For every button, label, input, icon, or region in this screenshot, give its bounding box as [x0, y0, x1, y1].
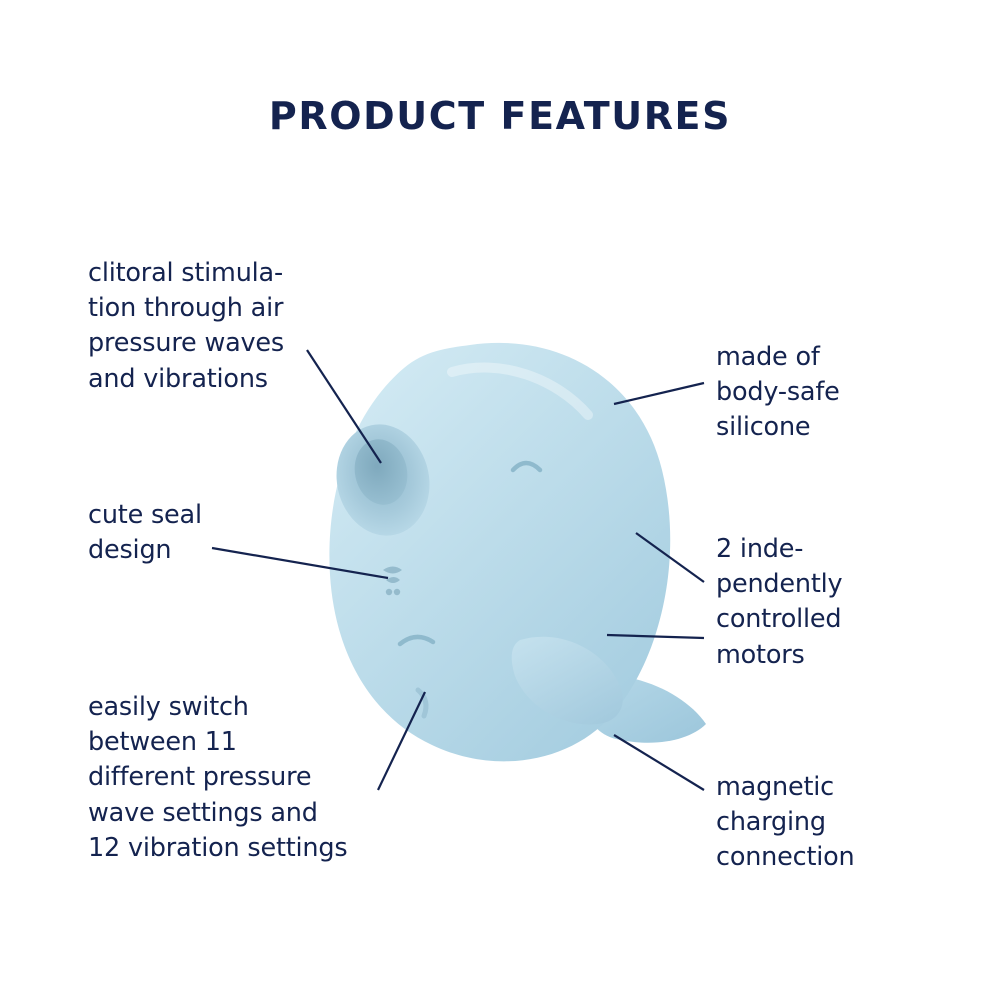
- callout-cute-seal-design: cute seal design: [88, 498, 318, 568]
- product-features-page: PRODUCT FEATURES: [0, 0, 1000, 1000]
- callout-easy-switch-settings: easily switch between 11 different press…: [88, 690, 378, 866]
- leader-line-silicone: [614, 383, 704, 404]
- callout-body-safe-silicone: made of body-safe silicone: [716, 340, 966, 446]
- callout-magnetic-charging: magnetic charging connection: [716, 770, 966, 876]
- callout-clitoral-stimulation: clitoral stimula- tion through air press…: [88, 256, 348, 397]
- leader-line-magnetic: [614, 735, 704, 790]
- callout-independent-motors: 2 inde- pendently controlled motors: [716, 532, 966, 673]
